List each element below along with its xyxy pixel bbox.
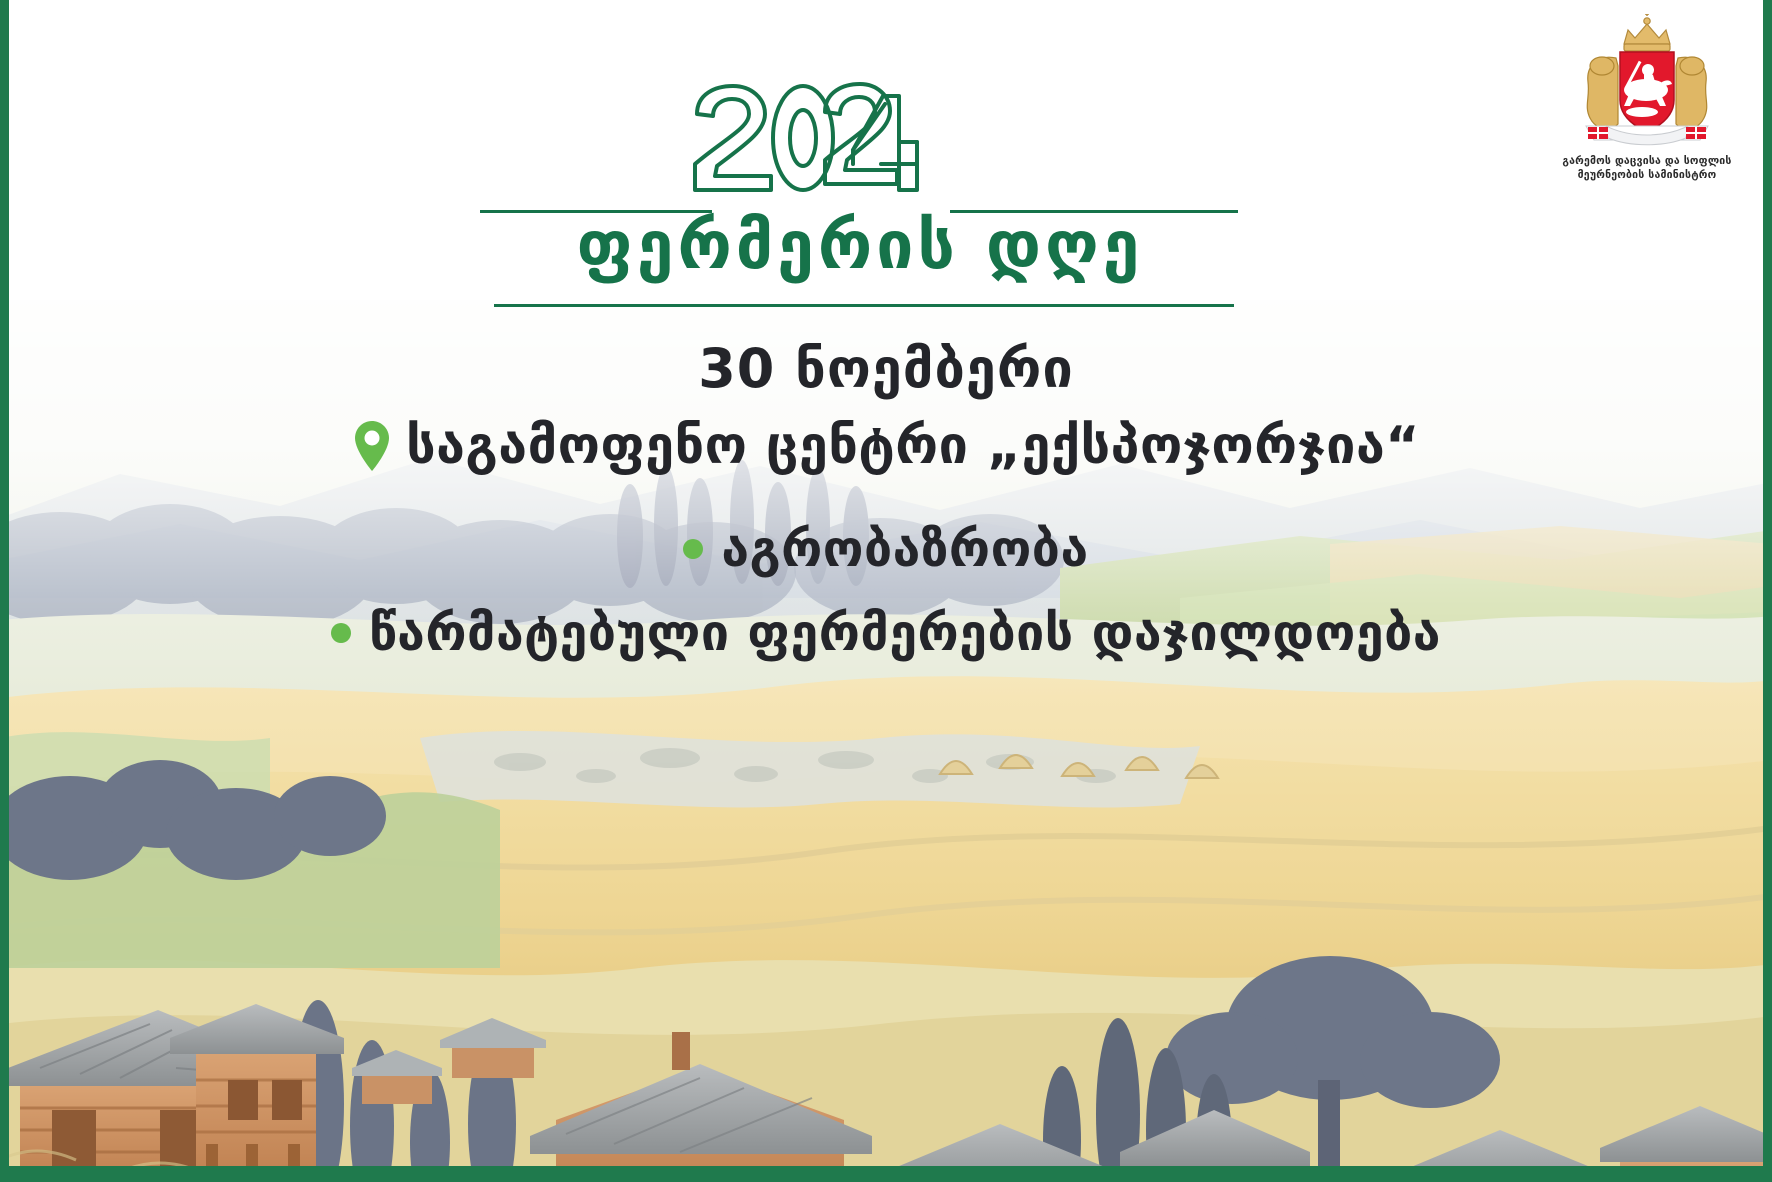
agenda-item-1-label: აგრობაზრობა <box>721 524 1088 574</box>
georgia-coat-of-arms-icon <box>1572 14 1722 154</box>
event-venue-row: საგამოფენო ცენტრი „ექსპოჯორჯია“ <box>0 420 1772 472</box>
event-date: 30 ნოემბერი <box>0 342 1772 396</box>
bottom-green-bar <box>0 1166 1772 1182</box>
agenda-item-2-label: წარმატებული ფერმერების დაჯილდოება <box>369 608 1441 658</box>
ministry-name-line-1: გარემოს დაცვისა და სოფლის <box>1548 154 1746 168</box>
year-2024-logo <box>685 80 925 200</box>
title-underline <box>494 304 1234 307</box>
event-details: 30 ნოემბერი საგამოფენო ცენტრი „ექსპოჯორჯ… <box>0 268 1772 658</box>
bullet-dot-icon <box>683 539 703 559</box>
left-green-edge <box>0 0 9 1182</box>
bullet-dot-icon <box>331 623 351 643</box>
right-green-edge <box>1763 0 1772 1182</box>
map-pin-icon <box>352 420 392 472</box>
agenda-item-2: წარმატებული ფერმერების დაჯილდოება <box>0 608 1772 658</box>
poster-root: ფერმერის დღე <box>0 0 1772 1182</box>
header-band: ფერმერის დღე <box>0 0 1772 300</box>
event-venue-label: საგამოფენო ცენტრი „ექსპოჯორჯია“ <box>406 420 1420 472</box>
agenda-item-1: აგრობაზრობა <box>0 524 1772 574</box>
ministry-name-line-2: მეურნეობის სამინისტრო <box>1548 168 1746 182</box>
title-lockup: ფერმერის დღე <box>480 58 1240 273</box>
ministry-emblem-block: გარემოს დაცვისა და სოფლის მეურნეობის სამ… <box>1548 14 1746 200</box>
page-title: ფერმერის დღე <box>480 210 1240 281</box>
